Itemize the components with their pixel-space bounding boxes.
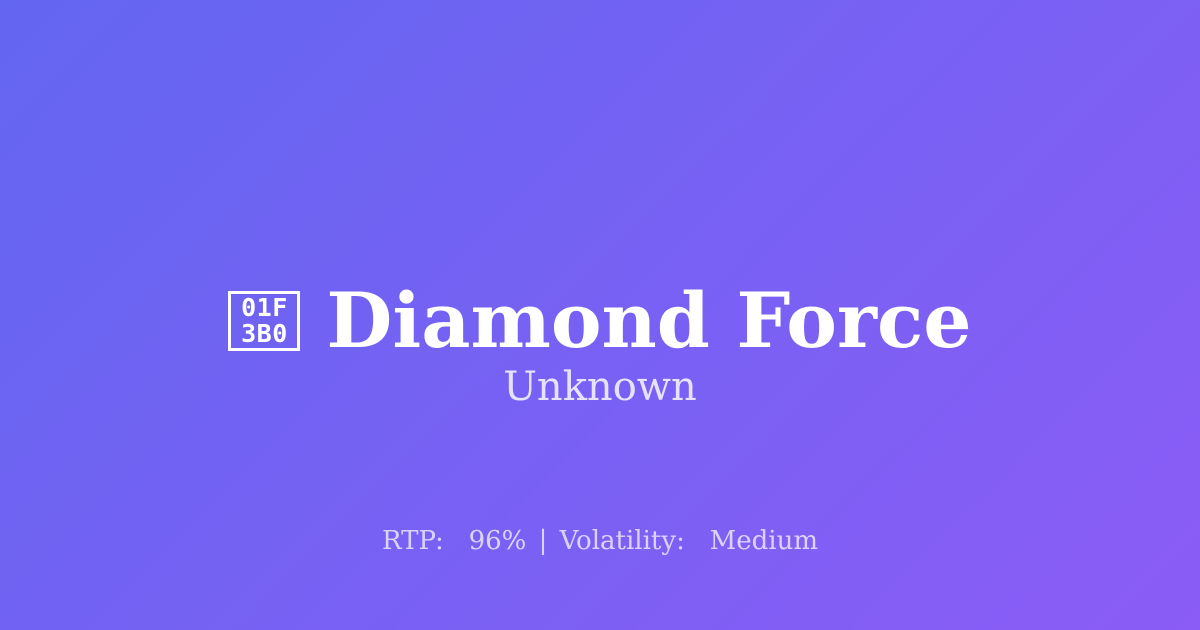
tofu-codepoint-row-top: 01F	[241, 295, 288, 321]
volatility-label: Volatility:	[560, 526, 685, 556]
page-title: Diamond Force	[326, 283, 971, 359]
game-stats-line: RTP: 96% | Volatility: Medium	[0, 526, 1200, 557]
slot-machine-icon: 01F 3B0	[228, 291, 300, 351]
rtp-label: RTP:	[382, 526, 444, 556]
tofu-codepoint-row-bottom: 3B0	[241, 321, 288, 347]
stats-separator: |	[535, 526, 552, 556]
volatility-value: Medium	[710, 526, 818, 556]
og-share-card: 01F 3B0 Diamond Force Unknown RTP: 96% |…	[0, 0, 1200, 630]
provider-subtitle: Unknown	[0, 363, 1200, 411]
rtp-value: 96%	[469, 526, 527, 556]
